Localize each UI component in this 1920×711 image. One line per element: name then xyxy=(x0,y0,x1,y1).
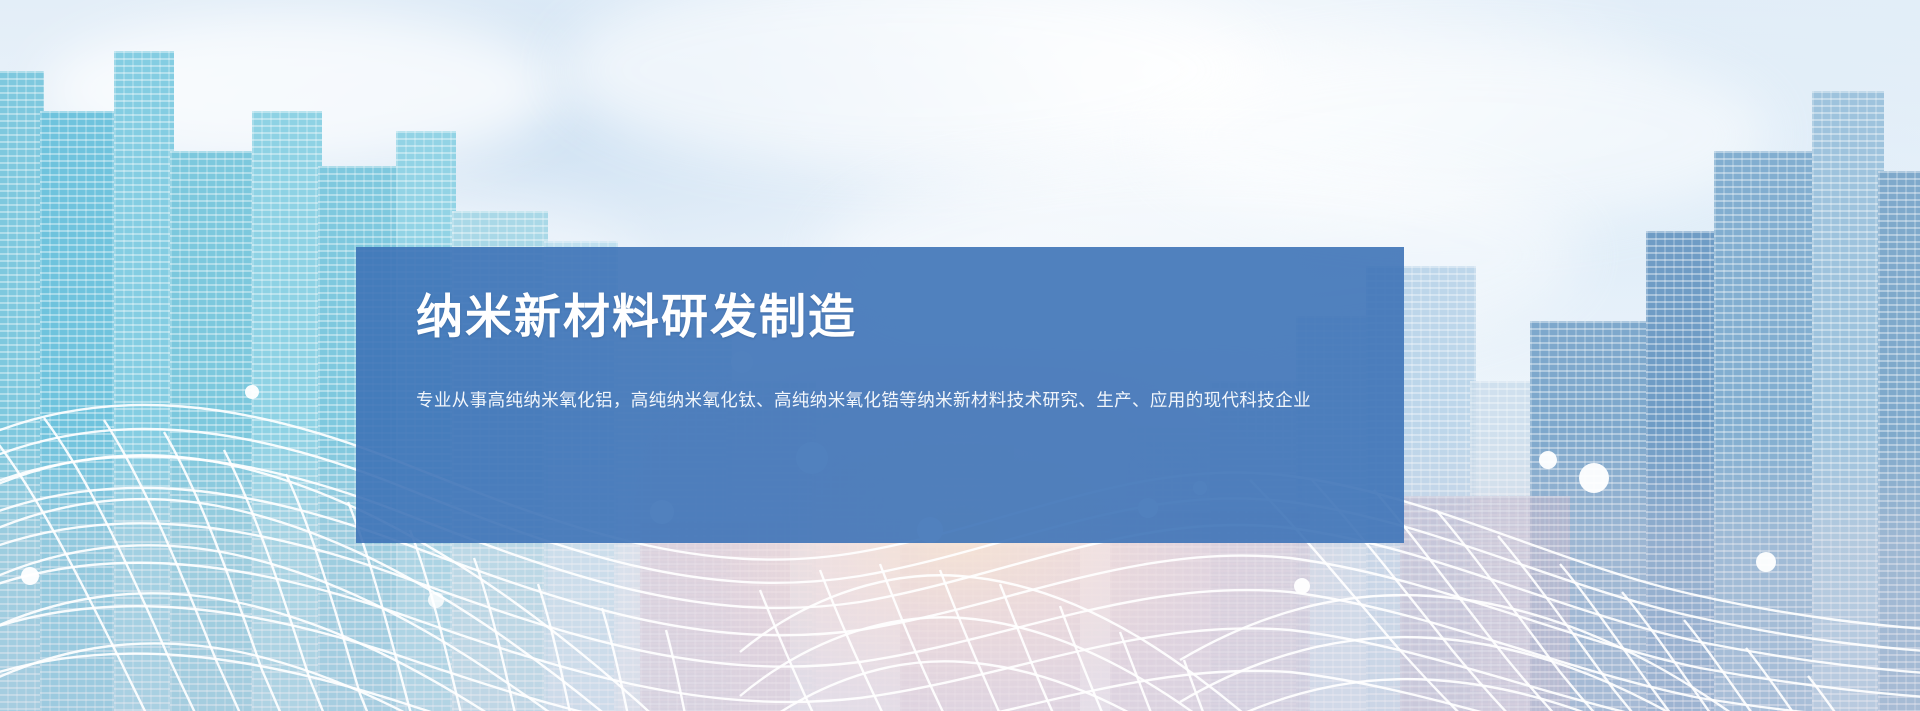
page-title: 纳米新材料研发制造 xyxy=(416,291,1344,343)
hero-text-panel: 纳米新材料研发制造 专业从事高纯纳米氧化铝，高纯纳米氧化钛、高纯纳米氧化锆等纳米… xyxy=(356,247,1404,543)
hero-banner: 纳米新材料研发制造 专业从事高纯纳米氧化铝，高纯纳米氧化钛、高纯纳米氧化锆等纳米… xyxy=(0,0,1920,711)
page-subtitle: 专业从事高纯纳米氧化铝，高纯纳米氧化钛、高纯纳米氧化锆等纳米新材料技术研究、生产… xyxy=(416,383,1344,417)
